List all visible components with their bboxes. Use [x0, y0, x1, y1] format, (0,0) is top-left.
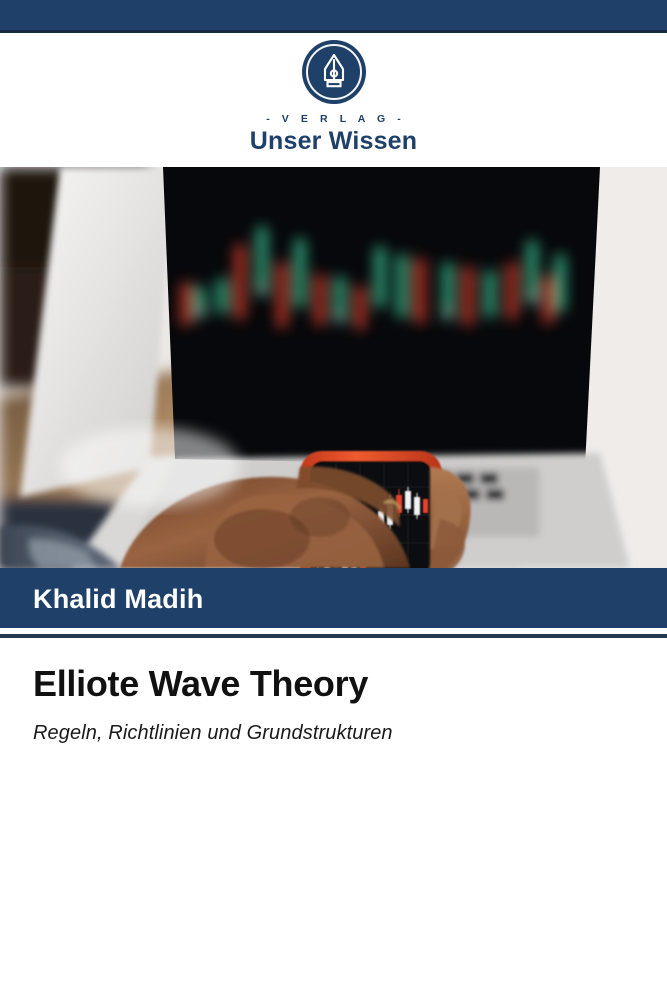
- book-cover: - V E R L A G - Unser Wissen: [0, 0, 667, 1000]
- publisher-logo-block: - V E R L A G - Unser Wissen: [0, 40, 667, 160]
- top-navy-bar: [0, 0, 667, 30]
- publisher-name: Unser Wissen: [250, 127, 418, 156]
- cover-photograph: [0, 167, 667, 568]
- book-subtitle: Regeln, Richtlinien und Grundstrukturen: [33, 722, 633, 745]
- publisher-verlag-label: - V E R L A G -: [262, 113, 406, 125]
- band-rule: [0, 634, 667, 638]
- book-title: Elliote Wave Theory: [33, 664, 633, 704]
- author-name: Khalid Madih: [33, 584, 203, 615]
- pen-nib-icon: [302, 40, 366, 104]
- top-bar-rule: [0, 30, 667, 33]
